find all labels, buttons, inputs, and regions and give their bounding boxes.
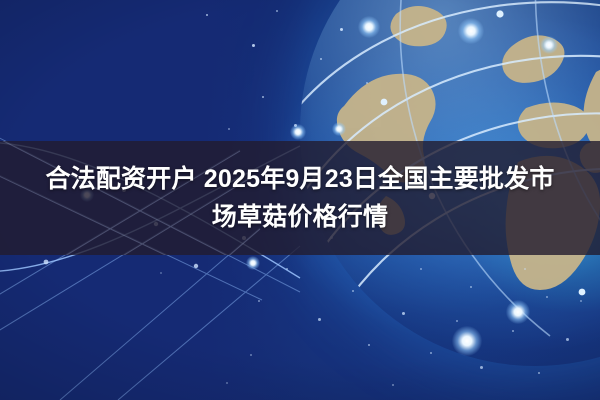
banner-title-line-1: 合法配资开户 2025年9月23日全国主要批发市	[45, 162, 554, 196]
banner-title-line-2: 场草菇价格行情	[212, 200, 388, 234]
banner-image: 合法配资开户 2025年9月23日全国主要批发市 场草菇价格行情	[0, 0, 600, 400]
banner-title: 合法配资开户 2025年9月23日全国主要批发市 场草菇价格行情	[0, 141, 600, 255]
